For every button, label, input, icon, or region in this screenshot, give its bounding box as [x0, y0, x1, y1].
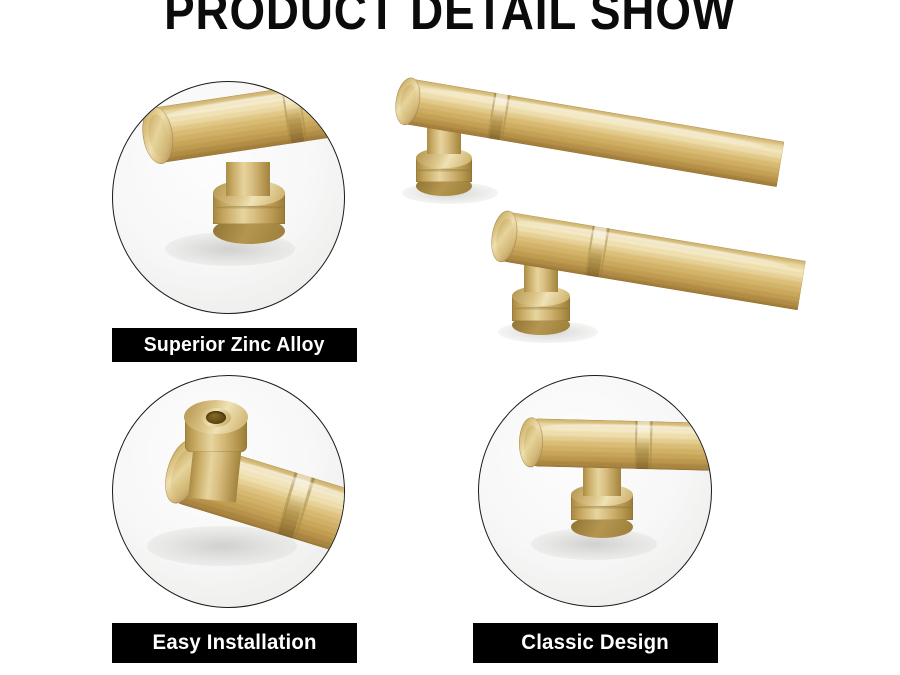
caption-text: Easy Installation	[152, 631, 316, 655]
screw-hole	[206, 411, 226, 424]
caption-text: Superior Zinc Alloy	[144, 334, 325, 357]
product-view-long-bar-pulls	[386, 70, 806, 350]
long-pull-lower	[484, 195, 806, 345]
product-detail-canvas: PRODUCT DETAIL SHOW	[0, 0, 900, 675]
caption-banner-easy-installation: Easy Installation	[112, 623, 357, 663]
mounting-post	[226, 162, 270, 196]
caption-banner-classic-design: Classic Design	[473, 623, 718, 663]
caption-banner-superior-zinc-alloy: Superior Zinc Alloy	[112, 328, 357, 362]
flange-groove	[215, 206, 283, 209]
pull-bar-group	[135, 81, 345, 166]
product-view-superior-zinc-alloy	[112, 81, 345, 314]
long-pull-upper	[386, 70, 806, 210]
pull-bar-group	[516, 418, 712, 471]
flange-groove	[418, 169, 470, 172]
page-title: PRODUCT DETAIL SHOW	[54, 0, 846, 40]
product-view-easy-installation	[112, 375, 345, 608]
flange-groove	[514, 307, 568, 310]
caption-text: Classic Design	[522, 631, 670, 655]
flange-groove	[573, 506, 631, 509]
product-view-classic-design	[478, 375, 712, 607]
